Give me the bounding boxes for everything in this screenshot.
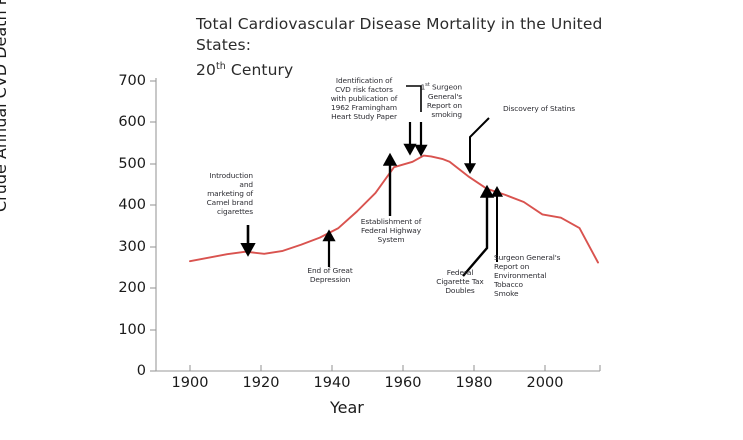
x-axis-ticks bbox=[190, 365, 600, 371]
arrow-discovery-of-statins bbox=[470, 118, 489, 168]
annotation-environmental-tobacco-smoke: Surgeon General's Report on Environmenta… bbox=[494, 253, 570, 298]
annotation-line: Report on bbox=[494, 262, 529, 271]
annotation-line: Camel brand bbox=[207, 198, 253, 207]
y-axis-ticks bbox=[150, 81, 156, 371]
annotation-line: marketing of bbox=[207, 189, 253, 198]
arrow-federal-cigarette-tax bbox=[463, 192, 487, 276]
annotation-line: System bbox=[378, 235, 405, 244]
annotation-line: Discovery of Statins bbox=[503, 104, 575, 113]
annotation-line: Surgeon General's bbox=[494, 253, 560, 262]
annotation-line: with publication of bbox=[331, 94, 398, 103]
annotation-discovery-of-statins: Discovery of Statins bbox=[503, 104, 593, 113]
annotation-line: General's bbox=[428, 92, 462, 101]
annotation-word-surgeon: Surgeon bbox=[432, 82, 462, 91]
annotation-line: Introduction and bbox=[209, 171, 253, 189]
annotation-end-of-great-depression: End of Great Depression bbox=[302, 266, 358, 284]
annotation-framingham-study: Identification of CVD risk factors with … bbox=[326, 76, 402, 121]
annotation-line: Heart Study Paper bbox=[331, 112, 397, 121]
annotation-line: Smoke bbox=[494, 289, 518, 298]
annotation-surgeon-general-smoking: 1st 1st SurgeonSurgeon General's Report … bbox=[413, 81, 462, 119]
annotation-line: Environmental Tobacco bbox=[494, 271, 546, 289]
annotation-line: Establishment of bbox=[361, 217, 421, 226]
annotation-line: Federal bbox=[447, 268, 474, 277]
annotation-line: smoking bbox=[431, 110, 462, 119]
annotation-line: CVD risk factors bbox=[335, 85, 393, 94]
annotation-line: Doubles bbox=[445, 286, 474, 295]
annotation-line: Identification of bbox=[336, 76, 392, 85]
annotation-ordinal-suffix: st bbox=[425, 82, 430, 88]
annotation-line: Federal Highway bbox=[361, 226, 421, 235]
chart-canvas: Total Cardiovascular Disease Mortality i… bbox=[0, 0, 743, 440]
annotation-federal-cigarette-tax: Federal Cigarette Tax Doubles bbox=[432, 268, 488, 295]
annotation-line: cigarettes bbox=[217, 207, 253, 216]
annotation-federal-highway-system: Establishment of Federal Highway System bbox=[358, 217, 424, 244]
annotation-line: Cigarette Tax bbox=[436, 277, 483, 286]
annotation-line: 1962 Framingham bbox=[331, 103, 397, 112]
annotation-line: Report on bbox=[427, 101, 462, 110]
annotation-camel-cigarettes: Introduction and marketing of Camel bran… bbox=[196, 171, 253, 216]
annotation-line: Depression bbox=[310, 275, 350, 284]
annotation-line: End of Great bbox=[307, 266, 352, 275]
